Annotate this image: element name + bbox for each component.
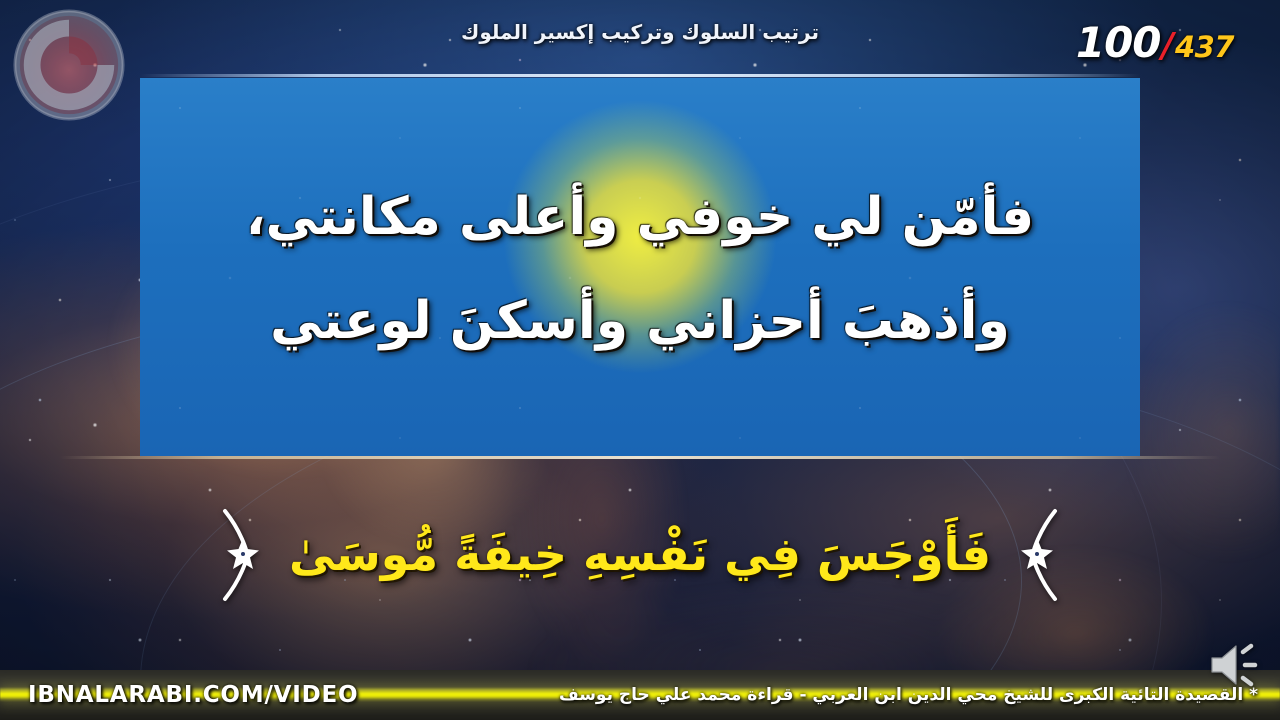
footer-bar: IBNALARABI.COM/VIDEO * القصيدة التائية ا… [0,670,1280,720]
site-url-label[interactable]: IBNALARABI.COM/VIDEO [28,682,358,708]
volume-speaker-icon[interactable] [1206,640,1262,690]
poem-lines: فأمّن لي خوفي وأعلى مكانتي، وأذهبَ أحزان… [140,110,1140,430]
credit-label: * القصيدة التائية الكبرى للشيخ محي الدين… [559,685,1258,705]
poem-line-2: وأذهبَ أحزاني وأسكنَ لوعتي [270,292,1010,352]
video-slide: ترتيب السلوك وتركيب إكسير الملوك 100 / 4… [0,0,1280,720]
ornate-right-parenthesis-icon [1017,507,1073,603]
quran-ayah-text: فَأَوْجَسَ فِي نَفْسِهِ خِيفَةً مُّوسَىٰ [289,526,991,584]
panel-top-divider [140,74,1140,77]
slide-counter-total: 437 [1175,30,1234,64]
poem-line-1: فأمّن لي خوفي وأعلى مكانتي، [246,188,1034,248]
quran-ayah-row: فَأَوْجَسَ فِي نَفْسِهِ خِيفَةً مُّوسَىٰ [0,490,1280,620]
panel-bottom-divider [60,456,1220,459]
slide-counter: 100 / 437 [1076,18,1234,67]
slide-counter-separator: / [1162,26,1174,66]
slide-counter-current: 100 [1076,18,1161,67]
ornate-left-parenthesis-icon [207,507,263,603]
